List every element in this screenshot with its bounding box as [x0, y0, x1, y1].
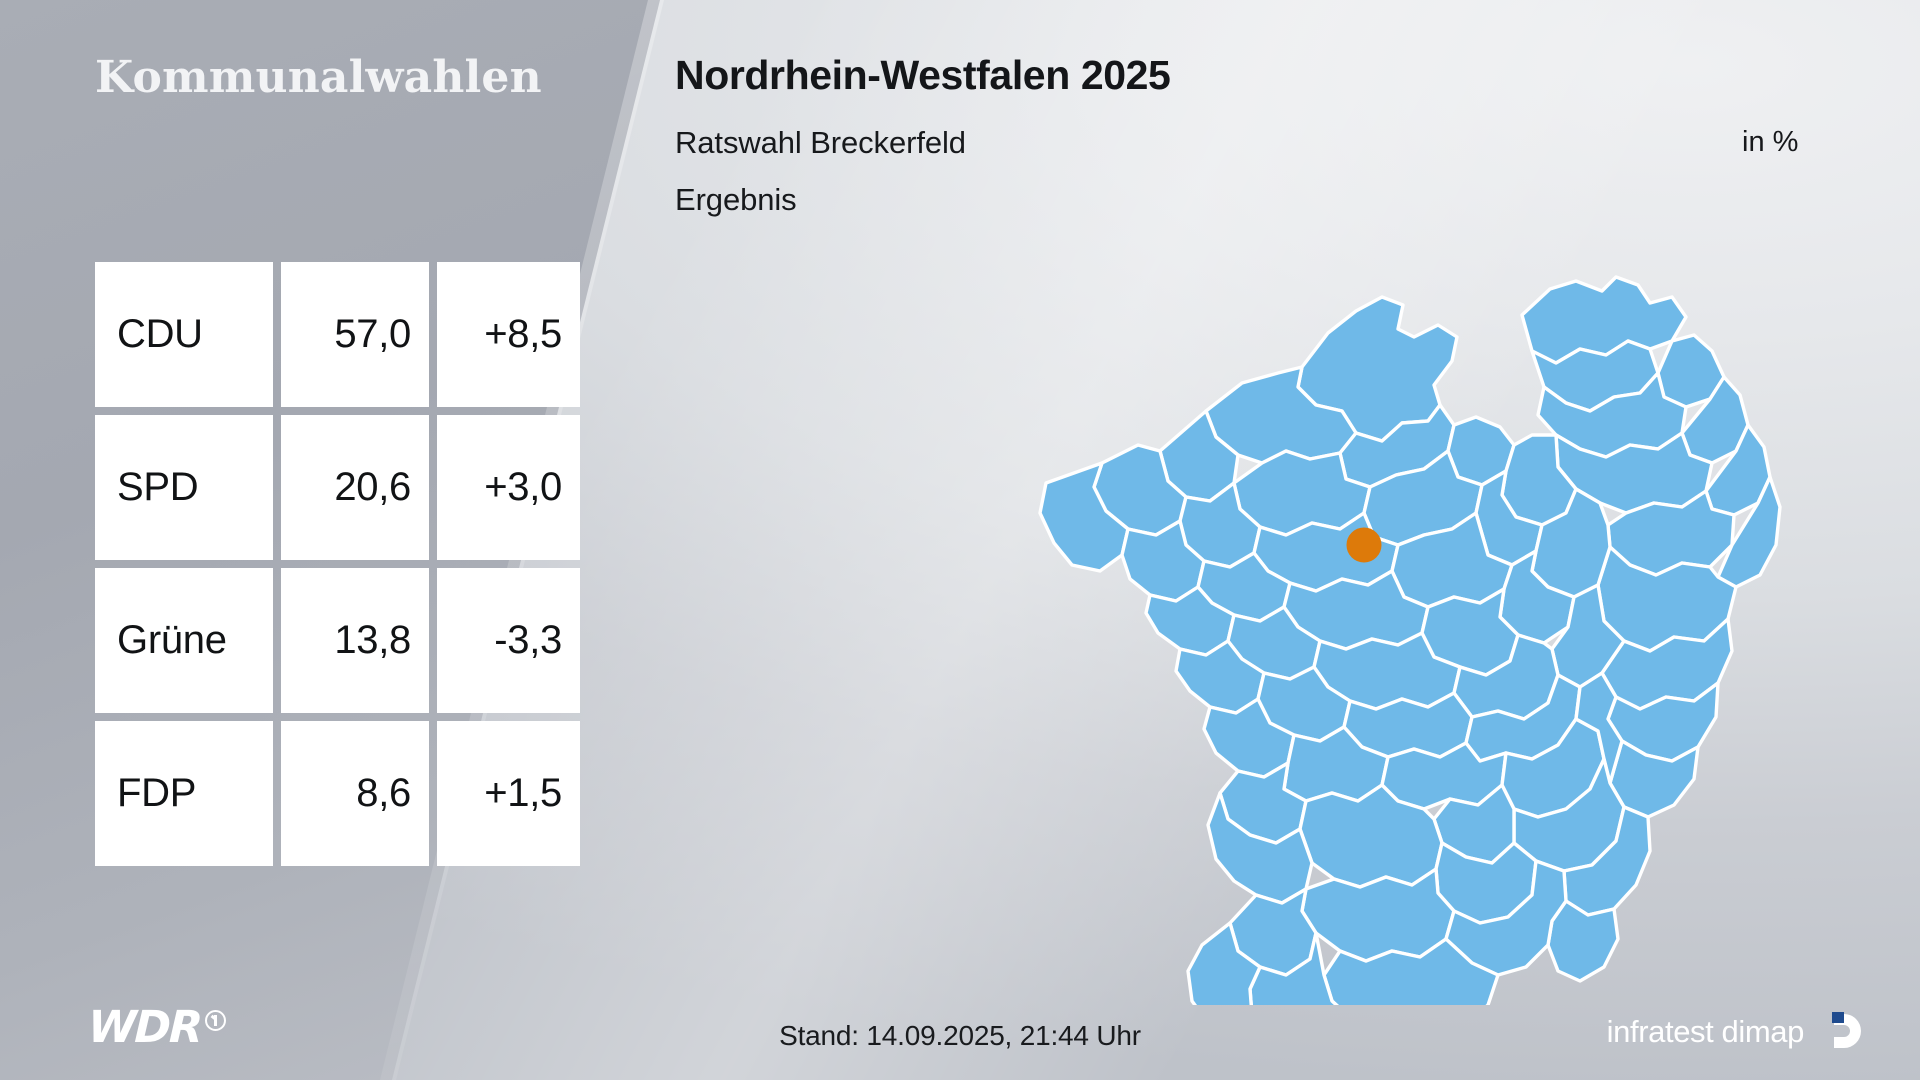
nrw-map [1010, 245, 1800, 1005]
graphic-canvas: Kommunalwahlen Nordrhein-Westfalen 2025 … [0, 0, 1920, 1080]
table-row: CDU [95, 262, 273, 407]
table-cell-change: -3,3 [437, 568, 580, 713]
header-region-title: Nordrhein-Westfalen 2025 [675, 52, 1170, 99]
table-cell-change: +8,5 [437, 262, 580, 407]
table-row: SPD [95, 415, 273, 560]
table-row: FDP [95, 721, 273, 866]
header-subline: Ergebnis [675, 182, 797, 218]
infratest-dimap-logo: infratest dimap [1607, 1008, 1864, 1054]
table-cell-share: 57,0 [281, 262, 429, 407]
table-cell-share: 20,6 [281, 415, 429, 560]
unit-label: in % [1742, 126, 1798, 159]
table-cell-share: 8,6 [281, 721, 429, 866]
infratest-dimap-wordmark: infratest dimap [1607, 1016, 1804, 1047]
table-cell-share: 13,8 [281, 568, 429, 713]
map-marker-breckerfeld [1347, 528, 1381, 562]
table-row: Grüne [95, 568, 273, 713]
table-cell-change: +3,0 [437, 415, 580, 560]
header-contest-title: Ratswahl Breckerfeld [675, 125, 966, 161]
results-table: CDU 57,0 +8,5 SPD 20,6 +3,0 Grüne 13,8 -… [95, 262, 580, 866]
dimap-ring-icon [1818, 1008, 1864, 1054]
table-cell-change: +1,5 [437, 721, 580, 866]
page-title: Kommunalwahlen [95, 52, 542, 103]
map-districts [1040, 277, 1780, 1005]
